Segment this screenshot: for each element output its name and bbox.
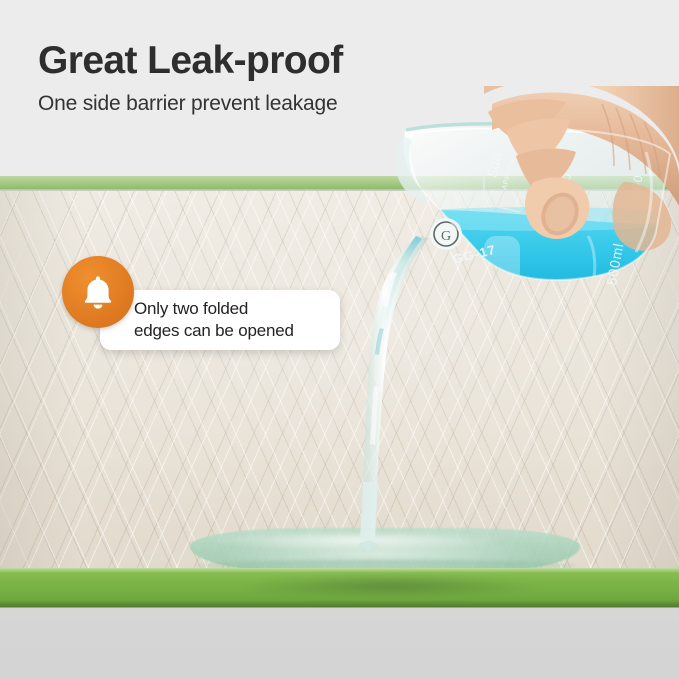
mat-bottom-band-shadow [0,600,679,608]
callout-card: Only two folded edges can be opened [100,290,340,350]
product-feature-image: Great Leak-proof One side barrier preven… [0,0,679,679]
hand-pouring-beaker: 500 APPROX 300 200 500ml GG-17 G [388,86,679,316]
mat-bottom-band-highlight [0,568,679,573]
callout-line-2: edges can be opened [134,320,340,342]
puddle-shadow-on-band [240,574,540,598]
bell-icon [81,274,115,310]
callout-badge [62,256,134,328]
callout-line-1: Only two folded [134,298,340,320]
svg-text:G: G [441,229,451,244]
page-title: Great Leak-proof [38,40,598,81]
